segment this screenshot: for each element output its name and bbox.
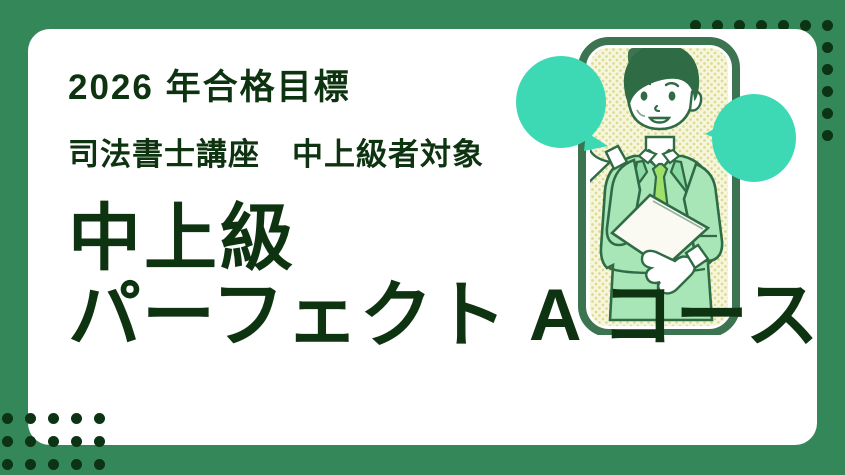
year-target-label: 2026 年合格目標 [68, 70, 828, 105]
decorative-dot-grid-bottom-left [0, 413, 120, 475]
decorative-dot [2, 413, 13, 424]
decorative-dot [71, 459, 82, 470]
decorative-dot [94, 436, 105, 447]
course-title-line-1: 中上級 [68, 204, 828, 273]
decorative-dot [48, 413, 59, 424]
decorative-dot [2, 459, 13, 470]
decorative-dot [48, 436, 59, 447]
decorative-dot [71, 413, 82, 424]
decorative-dot [94, 413, 105, 424]
course-title-line-2: パーフェクト A コース [68, 281, 828, 350]
course-audience-label: 司法書士講座 中上級者対象 [68, 139, 828, 170]
banner-text-block: 2026 年合格目標 司法書士講座 中上級者対象 中上級 パーフェクト A コー… [68, 70, 828, 351]
decorative-dot [94, 459, 105, 470]
decorative-dot [2, 436, 13, 447]
decorative-dot [71, 436, 82, 447]
promotional-banner: 2026 年合格目標 司法書士講座 中上級者対象 中上級 パーフェクト A コー… [0, 0, 845, 475]
decorative-dot [25, 436, 36, 447]
decorative-dot [25, 459, 36, 470]
decorative-dot [25, 413, 36, 424]
decorative-dot [48, 459, 59, 470]
